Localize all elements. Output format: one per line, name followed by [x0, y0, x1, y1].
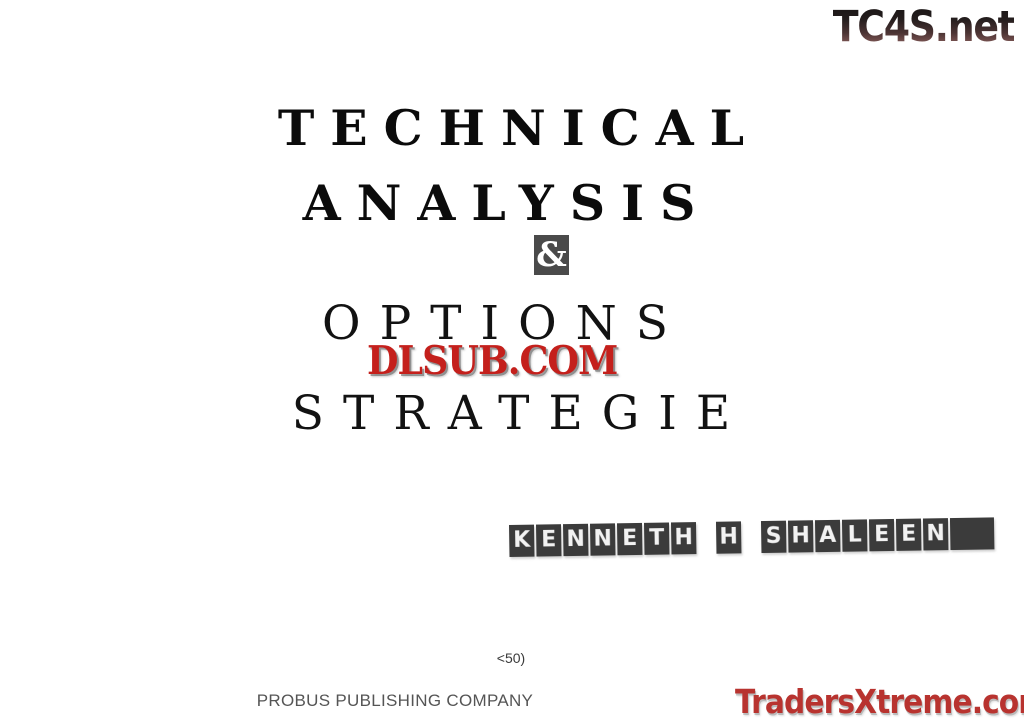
watermark-tradersxtreme: TradersXtreme.com: [735, 683, 1024, 721]
page-number-artifact: <50): [0, 650, 1023, 666]
author-plate-tail-block: [950, 517, 994, 550]
author-plate-letter: N: [590, 523, 615, 555]
author-plate-letter: S: [761, 521, 786, 553]
author-plate-letter: N: [923, 518, 948, 550]
author-plate-letter: T: [644, 522, 669, 554]
author-plate-letter: E: [617, 523, 642, 555]
title-line-strategie: STRATEGIE: [0, 386, 1023, 441]
watermark-tc4s: TC4S.net: [832, 2, 1014, 52]
author-plate-letter: H: [788, 520, 813, 552]
author-plate-gap: [743, 521, 760, 553]
author-plate-letter: A: [815, 520, 840, 552]
author-plate-gap: [698, 522, 715, 554]
author-name-plate: KENNETHHSHALEEN: [509, 517, 994, 557]
author-plate-letter: N: [563, 524, 588, 556]
author-plate-letter: E: [536, 524, 561, 556]
book-title-page: TC4S.net TECHNICAL ANALYSIS & OPTIONS ST…: [0, 0, 1024, 724]
title-line-technical: TECHNICAL: [0, 99, 1023, 157]
author-plate-letter: K: [509, 525, 534, 557]
author-plate-letter: H: [716, 521, 741, 553]
title-ampersand-box: &: [534, 235, 569, 275]
watermark-dlsub: DLSUB.COM: [367, 340, 617, 382]
author-plate-letter: H: [671, 522, 696, 554]
title-line-analysis: ANALYSIS: [0, 174, 1011, 232]
author-plate-letter: L: [842, 519, 867, 551]
author-plate-letter: E: [869, 519, 894, 551]
author-plate-letter: E: [896, 519, 921, 551]
